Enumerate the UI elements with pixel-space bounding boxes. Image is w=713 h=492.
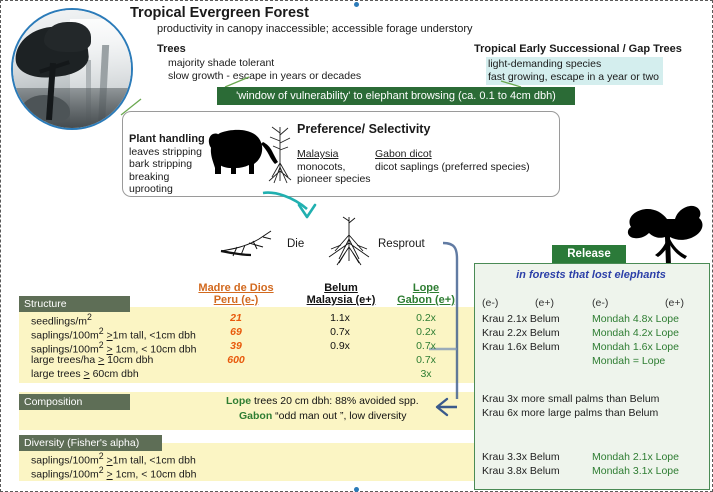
section-tag-composition: Composition (19, 394, 130, 410)
cell-belum: 1.1x (304, 312, 376, 324)
plant-handling-item: uprooting (129, 183, 205, 196)
section-tag-diversity: Diversity (Fisher's alpha) (19, 435, 162, 451)
release-composition-line: Krau 6x more large palms than Belum (482, 407, 658, 419)
diversity-row-label: saplings/100m2 > 1cm, < 10cm dbh (31, 465, 196, 481)
release-diversity-right: Mondah 3.1x Lope (592, 465, 679, 477)
plant-handling-heading: Plant handling (129, 133, 205, 146)
col-place: Gabon (e+) (383, 294, 469, 306)
release-col-head-e-minus-2: (e-) (592, 297, 608, 309)
release-structure-right: Mondah = Lope (592, 355, 665, 367)
gap-trees-heading: Tropical Early Successional / Gap Trees (474, 43, 682, 55)
plant-handling-item: bark stripping (129, 158, 205, 171)
col-site: Lope (383, 282, 469, 294)
trees-description: majority shade tolerant slow growth - es… (168, 57, 361, 83)
structure-row-label: large trees > 60cm dbh (31, 368, 139, 380)
release-structure-left: Krau 2.1x Belum (482, 313, 560, 325)
cell-belum: 0.7x (304, 326, 376, 338)
trees-heading: Trees (157, 43, 186, 55)
cell-lope: 0.2x (390, 312, 462, 324)
release-structure-left: Krau 2.2x Belum (482, 327, 560, 339)
col-site: Madre de Dios (191, 282, 281, 294)
release-diversity-left: Krau 3.3x Belum (482, 451, 560, 463)
composition-line-1-site: Lope (226, 395, 251, 407)
column-header-madre-de-dios: Madre de Dios Peru (e-) (191, 282, 281, 306)
column-header-belum: Belum Malaysia (e+) (296, 282, 386, 306)
page-title: Tropical Evergreen Forest (130, 5, 309, 21)
cell-lope: 0.7x (390, 340, 462, 352)
composition-line-2-site: Gabon (239, 410, 272, 422)
resprout-label: Resprout (378, 238, 425, 250)
release-diversity-left: Krau 3.8x Belum (482, 465, 560, 477)
column-header-lope: Lope Gabon (e+) (383, 282, 469, 306)
resprout-plant-icon (323, 215, 375, 267)
composition-line-1: Lope trees 20 cm dbh: 88% avoided spp. (226, 395, 419, 407)
page-subtitle: productivity in canopy inaccessible; acc… (157, 23, 473, 35)
selection-handle[interactable] (354, 487, 359, 492)
composition-line-1-text: trees 20 cm dbh: 88% avoided spp. (251, 395, 419, 407)
composition-line-2-text: “odd man out ”, low diversity (272, 410, 406, 422)
dead-plant-icon (219, 229, 281, 257)
plant-handling-item: breaking (129, 171, 205, 184)
release-col-head-e-plus-2: (e+) (665, 297, 684, 309)
composition-line-2: Gabon “odd man out ”, low diversity (239, 410, 406, 422)
plant-handling-list: Plant handling leaves stripping bark str… (129, 133, 205, 196)
release-structure-right: Mondah 4.2x Lope (592, 327, 679, 339)
release-col-head-e-plus-1: (e+) (535, 297, 554, 309)
die-label: Die (287, 238, 304, 250)
release-structure-left: Krau 1.6x Belum (482, 341, 560, 353)
cell-madre: 69 (200, 326, 272, 338)
pref-col2-line1: dicot saplings (preferred species) (375, 161, 530, 174)
release-subtitle: in forests that lost elephants (474, 269, 708, 281)
selection-handle[interactable] (354, 2, 359, 7)
col-site: Belum (296, 282, 386, 294)
forest-photo (11, 8, 133, 130)
cell-madre: 39 (200, 340, 272, 352)
release-composition-line: Krau 3x more small palms than Belum (482, 393, 659, 405)
release-diversity-right: Mondah 2.1x Lope (592, 451, 679, 463)
plant-handling-item: leaves stripping (129, 146, 205, 159)
preference-columns: Malaysia monocots, pioneer species Gabon… (297, 148, 530, 186)
release-structure-right: Mondah 4.8x Lope (592, 313, 679, 325)
structure-row-label: large trees/ha > 10cm dbh (31, 354, 153, 366)
trees-line-2: slow growth - escape in years or decades (168, 70, 361, 83)
pref-col2-head: Gabon dicot (375, 148, 530, 161)
trees-line-1: majority shade tolerant (168, 57, 361, 70)
tree-silhouette-icon (625, 197, 711, 265)
section-tag-structure: Structure (19, 296, 130, 312)
cell-belum: 0.9x (304, 340, 376, 352)
pref-col1-head: Malaysia (297, 148, 375, 161)
cell-lope: 0.2x (390, 326, 462, 338)
release-structure-right: Mondah 1.6x Lope (592, 341, 679, 353)
cell-lope: 0.7x (390, 354, 462, 366)
gap-line-2: fast growing, escape in a year or two (488, 71, 659, 84)
gap-line-1: light-demanding species (488, 58, 659, 71)
gap-trees-description: light-demanding species fast growing, es… (486, 57, 663, 85)
release-tag: Release (552, 245, 626, 263)
pref-col1-line2: pioneer species (297, 173, 375, 186)
cell-lope: 3x (390, 368, 462, 380)
slide-canvas: Tropical Evergreen Forest productivity i… (0, 0, 713, 492)
release-col-head-e-minus-1: (e-) (482, 297, 498, 309)
vulnerability-banner: 'window of vulnerability' to elephant br… (217, 87, 575, 105)
cell-madre: 600 (200, 354, 272, 366)
col-place: Peru (e-) (191, 294, 281, 306)
preference-title: Preference/ Selectivity (297, 122, 430, 136)
col-place: Malaysia (e+) (296, 294, 386, 306)
cell-madre: 21 (200, 312, 272, 324)
pref-col1-line1: monocots, (297, 161, 375, 174)
